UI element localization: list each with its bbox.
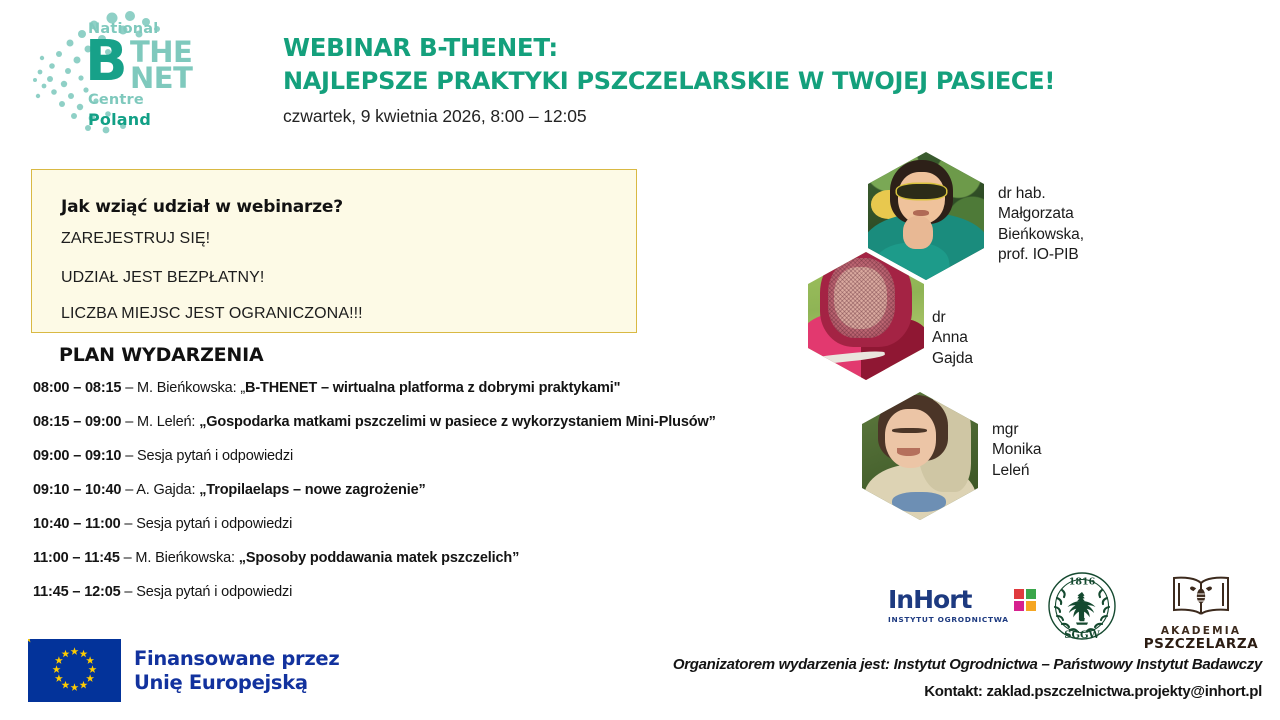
agenda-time: 11:00 – 11:45 xyxy=(33,550,120,566)
agenda-speaker: Sesja pytań i odpowiedzi xyxy=(136,584,292,600)
sggw-logo: 1816 SGGW xyxy=(1046,570,1118,642)
sggw-eagle-icon xyxy=(1068,592,1096,625)
sggw-name: SGGW xyxy=(1064,630,1100,641)
eu-funding-text: Finansowane przez Unię Europejską xyxy=(134,647,339,695)
agenda-dash: – xyxy=(120,550,136,566)
agenda-list: 08:00 – 08:15 – M. Bieńkowska: „B-THENET… xyxy=(33,381,863,619)
agenda-speaker: M. Bieńkowska: xyxy=(135,550,238,566)
agenda-time: 08:15 – 09:00 xyxy=(33,414,121,430)
webinar-poster: National B THE NET Centre Poland WEBINAR… xyxy=(0,0,1280,720)
agenda-dash: – xyxy=(121,448,137,464)
inhort-logo: InHort INSTYTUT OGRODNICTWA xyxy=(888,588,1036,624)
agenda-row: 11:00 – 11:45 – M. Bieńkowska: „Sposoby … xyxy=(33,551,863,566)
speaker-name: dr hab. Małgorzata Bieńkowska, prof. IO-… xyxy=(998,184,1084,266)
agenda-row: 08:00 – 08:15 – M. Bieńkowska: „B-THENET… xyxy=(33,381,863,396)
speaker-name: dr Anna Gajda xyxy=(932,308,973,369)
contact-line: Kontakt: zaklad.pszczelnictwa.projekty@i… xyxy=(542,683,1262,700)
agenda-time: 09:00 – 09:10 xyxy=(33,448,121,464)
inhort-wordmark: InHort xyxy=(888,588,1009,612)
agenda-dash: – xyxy=(121,380,137,396)
title-line-1: WEBINAR B-THENET: xyxy=(283,32,1183,65)
eu-funding-badge: Finansowane przez Unię Europejską xyxy=(28,639,339,702)
agenda-dash: – xyxy=(121,414,137,430)
agenda-row: 10:40 – 11:00 – Sesja pytań i odpowiedzi xyxy=(33,517,863,532)
info-box-limited-line: LICZBA MIEJSC JEST OGRANICZONA!!! xyxy=(61,305,636,323)
eu-flag-icon xyxy=(28,639,121,702)
info-box-heading: Jak wziąć udział w webinarze? xyxy=(61,197,636,217)
agenda-topic: „Sposoby poddawania matek pszczelich” xyxy=(239,550,520,566)
agenda-speaker: M. Leleń: xyxy=(137,414,199,430)
footer-text: Organizatorem wydarzenia jest: Instytut … xyxy=(542,655,1262,700)
agenda-time: 10:40 – 11:00 xyxy=(33,516,121,532)
agenda-time: 11:45 – 12:05 xyxy=(33,584,121,600)
akademia-line-2: PSZCZELARZA xyxy=(1136,637,1266,652)
page-title: WEBINAR B-THENET: NAJLEPSZE PRAKTYKI PSZ… xyxy=(283,32,1183,127)
logo-centre-text: Centre xyxy=(88,93,238,109)
agenda-dash: – xyxy=(121,516,137,532)
speaker-photo-hexagon xyxy=(868,152,984,280)
sggw-year: 1816 xyxy=(1069,577,1096,588)
agenda-row: 11:45 – 12:05 – Sesja pytań i odpowiedzi xyxy=(33,585,863,600)
agenda-dash: – xyxy=(121,482,136,498)
speakers-panel: dr hab. Małgorzata Bieńkowska, prof. IO-… xyxy=(800,148,1280,518)
speaker-photo-lelen xyxy=(862,392,978,520)
speaker-photo-gajda xyxy=(808,252,924,380)
logo-poland-text: Poland xyxy=(88,110,238,129)
speaker-photo-bienkowska xyxy=(868,152,984,280)
agenda-topic: B-THENET – wirtualna platforma z dobrymi… xyxy=(245,380,620,396)
partner-logos: InHort INSTYTUT OGRODNICTWA 1816 SGGW xyxy=(888,570,1278,642)
agenda-time: 08:00 – 08:15 xyxy=(33,380,121,396)
agenda-speaker: Sesja pytań i odpowiedzi xyxy=(136,516,292,532)
info-box-free-line: UDZIAŁ JEST BEZPŁATNY! xyxy=(61,269,636,287)
logo-wordmark: National B THE NET Centre Poland xyxy=(88,22,238,129)
agenda-heading: PLAN WYDARZENIA xyxy=(59,344,264,366)
agenda-speaker: M. Bieńkowska: „ xyxy=(137,380,245,396)
logo-net-text: NET xyxy=(130,64,192,93)
agenda-topic: „Gospodarka matkami pszczelimi w pasiece… xyxy=(199,414,716,430)
agenda-time: 09:10 – 10:40 xyxy=(33,482,121,498)
speaker-photo-hexagon xyxy=(808,252,924,380)
organizer-line: Organizatorem wydarzenia jest: Instytut … xyxy=(542,655,1262,675)
speaker-name: mgr Monika Leleń xyxy=(992,420,1041,481)
participation-info-box: Jak wziąć udział w webinarze? ZAREJESTRU… xyxy=(31,169,637,333)
agenda-dash: – xyxy=(121,584,137,600)
logo-letter-b: B xyxy=(85,34,128,90)
inhort-color-squares-icon xyxy=(1014,589,1036,611)
akademia-pszczelarza-logo: AKADEMIA PSZCZELARZA xyxy=(1136,574,1266,652)
agenda-row: 08:15 – 09:00 – M. Leleń: „Gospodarka ma… xyxy=(33,415,863,430)
info-box-register-line: ZAREJESTRUJ SIĘ! xyxy=(61,230,636,248)
inhort-subtitle: INSTYTUT OGRODNICTWA xyxy=(888,615,1009,624)
agenda-topic: „Tropilaelaps – nowe zagrożenie” xyxy=(199,482,425,498)
speaker-photo-hexagon xyxy=(862,392,978,520)
agenda-row: 09:00 – 09:10 – Sesja pytań i odpowiedzi xyxy=(33,449,863,464)
b-thenet-logo: National B THE NET Centre Poland xyxy=(26,8,236,140)
open-book-with-bee-icon xyxy=(1158,574,1244,618)
agenda-speaker: A. Gajda: xyxy=(136,482,199,498)
event-datetime: czwartek, 9 kwietnia 2026, 8:00 – 12:05 xyxy=(283,106,1183,127)
agenda-row: 09:10 – 10:40 – A. Gajda: „Tropilaelaps … xyxy=(33,483,863,498)
title-line-2: NAJLEPSZE PRAKTYKI PSZCZELARSKIE W TWOJE… xyxy=(283,65,1183,97)
agenda-speaker: Sesja pytań i odpowiedzi xyxy=(137,448,293,464)
